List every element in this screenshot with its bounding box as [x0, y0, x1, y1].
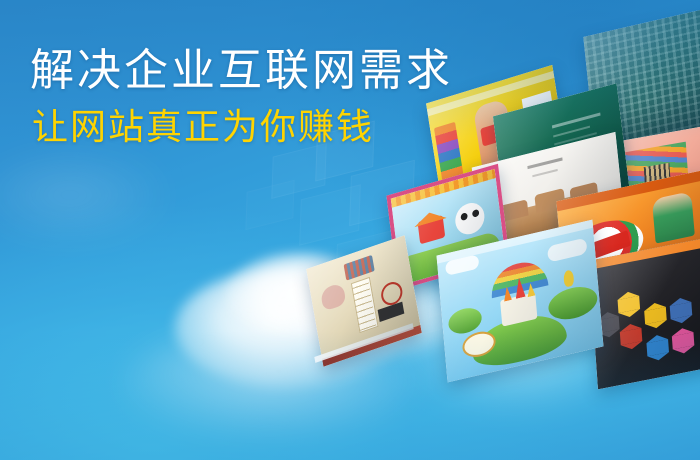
page-title: 解决企业互联网需求 [30, 48, 453, 95]
hero-banner: 解决企业互联网需求 让网站真正为你赚钱 [0, 0, 700, 460]
page-subtitle: 让网站真正为你赚钱 [32, 108, 374, 147]
